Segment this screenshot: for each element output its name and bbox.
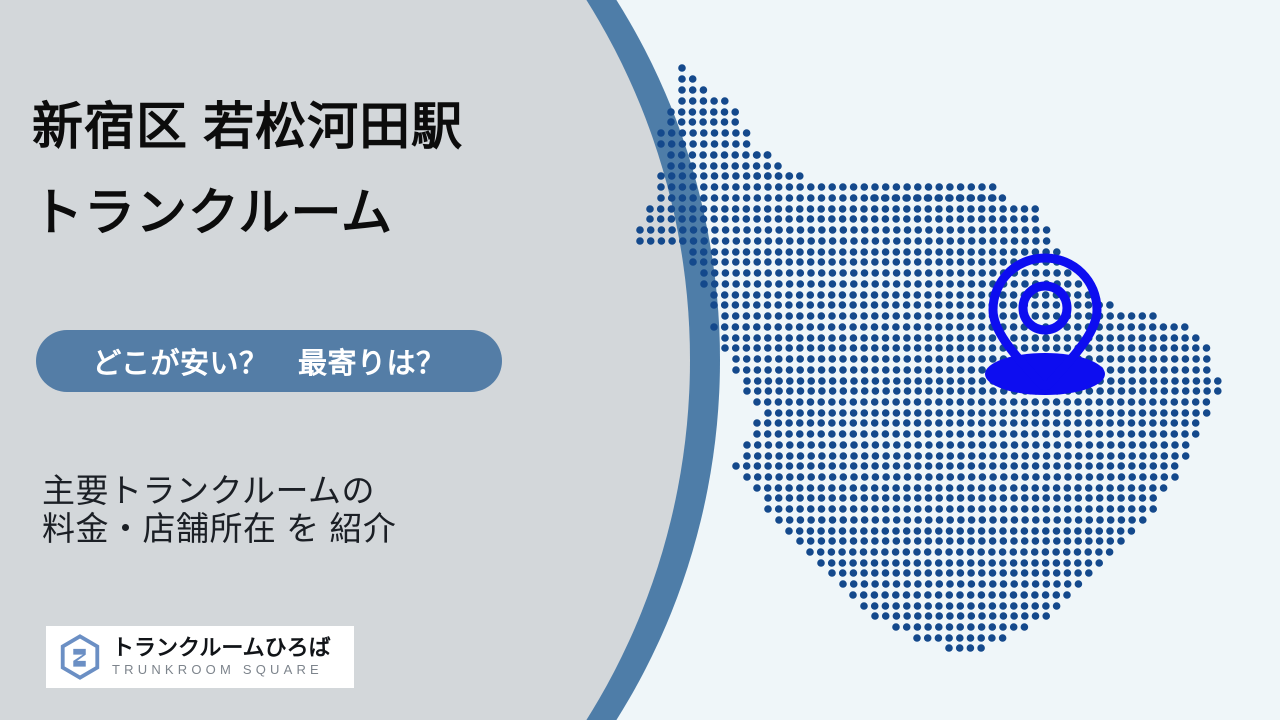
question-badge: どこが安い？ 最寄りは？ <box>36 330 502 392</box>
shinjuku-dot-map-icon <box>600 0 1280 720</box>
brand-logo-title: トランクルームひろば <box>112 636 331 660</box>
left-content-column: 新宿区 若松河田駅 トランクルーム どこが安い？ 最寄りは？ 主要トランクルーム… <box>0 0 600 720</box>
brand-logo-text: トランクルームひろば TRUNKROOM SQUARE <box>112 636 331 678</box>
subtitle-line-2: 料金・店舗所在 を 紹介 <box>42 511 396 548</box>
brand-logo-subtitle: TRUNKROOM SQUARE <box>112 662 331 678</box>
brand-logo: トランクルームひろば TRUNKROOM SQUARE <box>46 626 354 688</box>
hexagon-logo-icon <box>56 633 104 681</box>
page-title-line-1: 新宿区 若松河田駅 <box>32 100 463 154</box>
map-region <box>600 0 1280 720</box>
subtitle-line-1: 主要トランクルームの <box>42 473 375 510</box>
location-pin-icon <box>978 252 1113 397</box>
question-badge-label: どこが安い？ 最寄りは？ <box>92 340 445 382</box>
infographic-slide: 新宿区 若松河田駅 トランクルーム どこが安い？ 最寄りは？ 主要トランクルーム… <box>0 0 1280 720</box>
page-title-line-2: トランクルーム <box>32 186 393 240</box>
